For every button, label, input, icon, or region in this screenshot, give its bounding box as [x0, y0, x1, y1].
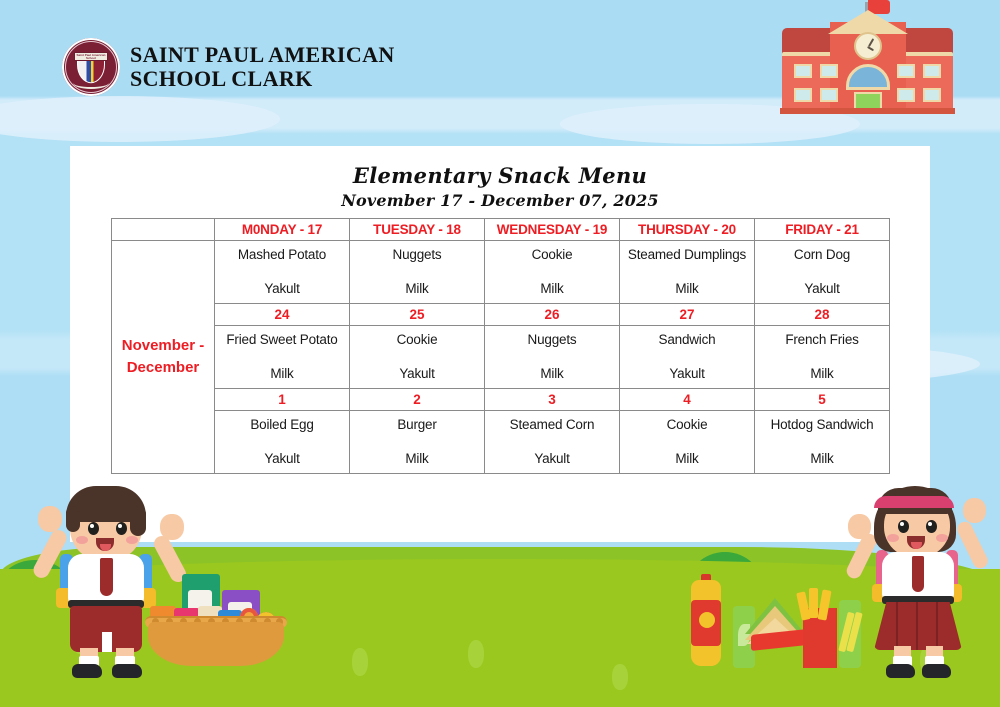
food-name: Hotdog Sandwich: [757, 417, 887, 433]
date-cell: 1: [215, 389, 350, 411]
table-row: Fried Sweet Potato Milk Cookie Yakult Nu…: [112, 326, 890, 389]
date-cell: 3: [485, 389, 620, 411]
table-cell-food: Hotdog Sandwich Milk: [755, 411, 890, 474]
date-cell: 24: [215, 304, 350, 326]
date-cell: 28: [755, 304, 890, 326]
food-name: Cookie: [622, 417, 752, 433]
table-cell-food: French Fries Milk: [755, 326, 890, 389]
schoolgirl-illustration: [852, 476, 992, 678]
table-cell-food: Cookie Milk: [485, 241, 620, 304]
month-label-cell: November - December: [112, 241, 215, 474]
table-cell-food: Sandwich Yakult: [620, 326, 755, 389]
day-header-wednesday: WEDNESDAY - 19: [485, 219, 620, 241]
day-header-thursday: THURSDAY - 20: [620, 219, 755, 241]
drink-name: Milk: [352, 281, 482, 297]
table-cell-food: Fried Sweet Potato Milk: [215, 326, 350, 389]
table-cell-food: Steamed Corn Yakult: [485, 411, 620, 474]
table-cell-food: Nuggets Milk: [350, 241, 485, 304]
table-row: Boiled Egg Yakult Burger Milk Steamed Co…: [112, 411, 890, 474]
food-name: Sandwich: [622, 332, 752, 348]
drink-name: Milk: [487, 366, 617, 382]
food-name: Fried Sweet Potato: [217, 332, 347, 348]
table-cell-food: Boiled Egg Yakult: [215, 411, 350, 474]
food-name: Cookie: [487, 247, 617, 263]
day-header-tuesday: TUESDAY - 18: [350, 219, 485, 241]
drink-name: Yakult: [352, 366, 482, 382]
food-name: Nuggets: [352, 247, 482, 263]
table-date-row: 1 2 3 4 5: [112, 389, 890, 411]
date-cell: 4: [620, 389, 755, 411]
table-header-row: M0NDAY - 17 TUESDAY - 18 WEDNESDAY - 19 …: [112, 219, 890, 241]
table-cell-food: Mashed Potato Yakult: [215, 241, 350, 304]
drink-name: Yakult: [487, 451, 617, 467]
menu-title: Elementary Snack Menu: [70, 163, 930, 188]
date-cell: 2: [350, 389, 485, 411]
table-date-row: 24 25 26 27 28: [112, 304, 890, 326]
table-cell-food: Burger Milk: [350, 411, 485, 474]
school-seal-icon: Saint Paul American School: [62, 38, 120, 96]
date-cell: 26: [485, 304, 620, 326]
date-cell: 27: [620, 304, 755, 326]
menu-date-range: November 17 - December 07, 2025: [70, 191, 930, 210]
drink-name: Milk: [622, 281, 752, 297]
drink-name: Milk: [352, 451, 482, 467]
table-cell-food: Corn Dog Yakult: [755, 241, 890, 304]
food-name: Steamed Dumplings: [622, 247, 752, 263]
food-name: French Fries: [757, 332, 887, 348]
food-name: Burger: [352, 417, 482, 433]
food-name: Corn Dog: [757, 247, 887, 263]
food-name: Mashed Potato: [217, 247, 347, 263]
drink-name: Milk: [622, 451, 752, 467]
seal-banner-text: Saint Paul American School: [74, 52, 108, 61]
school-building-icon: [780, 8, 955, 112]
grass-tuft: [352, 648, 368, 676]
table-corner-cell: [112, 219, 215, 241]
drink-name: Yakult: [217, 451, 347, 467]
table-cell-food: Steamed Dumplings Milk: [620, 241, 755, 304]
school-branding: Saint Paul American School SAINT PAUL AM…: [62, 38, 395, 96]
drink-name: Yakult: [757, 281, 887, 297]
food-name: Nuggets: [487, 332, 617, 348]
drink-name: Milk: [217, 366, 347, 382]
drink-name: Milk: [757, 366, 887, 382]
food-name: Cookie: [352, 332, 482, 348]
drink-name: Milk: [487, 281, 617, 297]
table-cell-food: Nuggets Milk: [485, 326, 620, 389]
grass-tuft: [468, 640, 484, 668]
drink-name: Milk: [757, 451, 887, 467]
school-name-text: SAINT PAUL AMERICAN SCHOOL CLARK: [130, 43, 395, 91]
date-cell: 5: [755, 389, 890, 411]
bottle-dot: [699, 612, 715, 628]
snack-food-icon: [683, 584, 858, 672]
drink-name: Yakult: [622, 366, 752, 382]
day-header-monday: M0NDAY - 17: [215, 219, 350, 241]
snack-menu-table: M0NDAY - 17 TUESDAY - 18 WEDNESDAY - 19 …: [111, 218, 890, 474]
snack-menu-poster: Saint Paul American School SAINT PAUL AM…: [0, 0, 1000, 707]
date-cell: 25: [350, 304, 485, 326]
day-header-friday: FRIDAY - 21: [755, 219, 890, 241]
food-name: Boiled Egg: [217, 417, 347, 433]
headband: [874, 496, 954, 508]
menu-panel: Elementary Snack Menu November 17 - Dece…: [70, 146, 930, 542]
table-cell-food: Cookie Yakult: [350, 326, 485, 389]
table-row: November - December Mashed Potato Yakult…: [112, 241, 890, 304]
snack-basket-icon: [148, 578, 284, 666]
food-name: Steamed Corn: [487, 417, 617, 433]
drink-name: Yakult: [217, 281, 347, 297]
grass-tuft: [612, 664, 628, 690]
fry: [809, 588, 818, 618]
table-cell-food: Cookie Milk: [620, 411, 755, 474]
